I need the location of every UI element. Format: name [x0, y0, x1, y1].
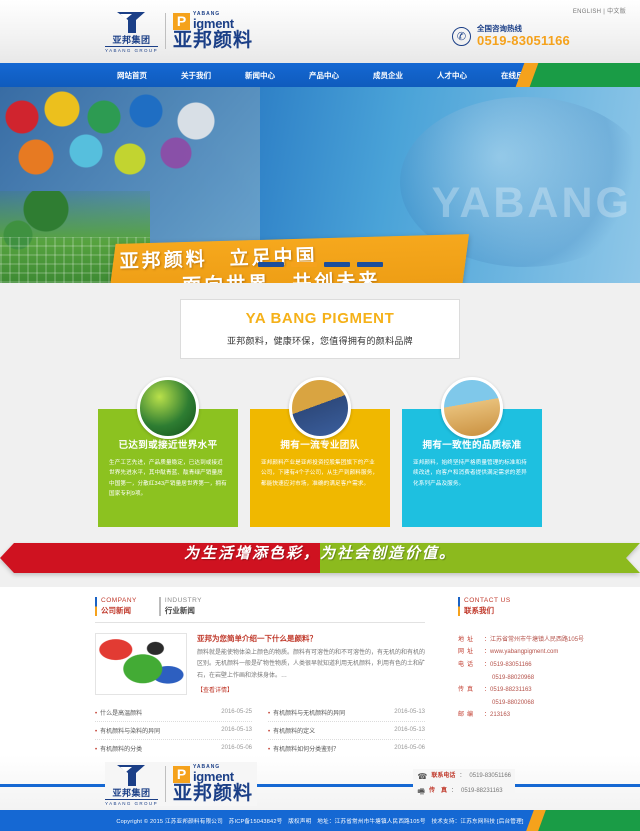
footer-divider-line — [0, 784, 640, 787]
tab-label-cn: 公司新闻 — [101, 606, 137, 616]
bullet-icon: • — [95, 711, 97, 717]
tab-indicator — [458, 597, 460, 616]
tab-label-en: INDUSTRY — [165, 597, 202, 606]
telephone-icon: ☎ — [417, 769, 427, 784]
footer-logo-divider — [165, 766, 166, 802]
news-list-right: •有机颜料与无机颜料的异同 2016-05-13 •有机颜料的定义 2016-0… — [268, 704, 425, 758]
list-item[interactable]: •有机颜料与染料的异同 2016-05-13 — [95, 722, 252, 740]
contact-address-row: 地址 ：江苏省常州市牛塘镇人民西路105号 — [458, 634, 584, 647]
news-date: 2016-05-06 — [394, 745, 425, 751]
copyright-text: Copyright © 2015 江苏亚邦颜料有限公司 苏ICP备1504384… — [116, 817, 523, 825]
contact-label: 邮编 — [458, 709, 484, 722]
contact-details: 地址 ：江苏省常州市牛塘镇人民西路105号 网址 ：www.yabangpigm… — [458, 634, 584, 722]
contact-label-en: CONTACT US — [464, 597, 511, 606]
site-footer: 亚邦集团 YABANG GROUP P YABANG igment 亚邦颜料 ☎… — [0, 755, 640, 831]
tab-industry-news[interactable]: INDUSTRY 行业新闻 — [159, 597, 202, 616]
tab-label-cn: 行业新闻 — [165, 606, 202, 616]
slider-dot-2[interactable] — [291, 262, 317, 267]
hero-banner: YABANG 亚邦颜料 立足中国 面向世界 共创未来 — [0, 87, 640, 283]
tab-indicator — [159, 597, 161, 616]
copyright-bar: Copyright © 2015 江苏亚邦颜料有限公司 苏ICP备1504384… — [0, 810, 640, 831]
group-logo-mark: 亚邦集团 YABANG GROUP — [105, 9, 158, 53]
feature-card[interactable]: 拥有一致性的品质标准 亚邦颜料，始终坚持严格质量管理的标准和持续改进，向客户和消… — [402, 377, 542, 527]
news-title[interactable]: 有机颜料如何分类鉴别？ — [273, 747, 339, 753]
card-title: 拥有一致性的品质标准 — [413, 437, 531, 451]
news-date: 2016-05-13 — [394, 727, 425, 733]
news-lists: •什么是高温颜料 2016-05-25 •有机颜料与染料的异同 2016-05-… — [95, 704, 425, 758]
contact-label: 传真 — [458, 684, 484, 697]
pigment-brand-big: igment — [193, 17, 234, 30]
news-date: 2016-05-06 — [221, 745, 252, 751]
intro-section: YA BANG PIGMENT 亚邦颜料，健康环保，您值得拥有的颜料品牌 — [0, 283, 640, 363]
news-tabs: COMPANY 公司新闻 INDUSTRY 行业新闻 — [95, 597, 425, 623]
group-name-cn: 亚邦集团 — [112, 36, 150, 45]
news-title[interactable]: 有机颜料与无机颜料的异同 — [273, 711, 345, 717]
lower-section: COMPANY 公司新闻 INDUSTRY 行业新闻 亚邦为您简单介绍一下什么是… — [0, 587, 640, 758]
card-title: 拥有一流专业团队 — [261, 437, 379, 451]
footer-logo[interactable]: 亚邦集团 YABANG GROUP P YABANG igment 亚邦颜料 — [105, 762, 257, 806]
nav-item-home[interactable]: 网站首页 — [100, 70, 164, 81]
contact-website-row[interactable]: 网址 ：www.yabangpigment.com — [458, 646, 584, 659]
feature-card[interactable]: 拥有一流专业团队 亚邦颜料产业是亚邦投资控股集团旗下的产业公司，下建有4个子公司… — [250, 377, 390, 527]
featured-news-title[interactable]: 亚邦为您简单介绍一下什么是颜料？ — [197, 633, 425, 644]
feature-cards: 已达到或接近世界水平 生产工艺先进，产品质量稳定，已达到或接近世界先进水平，其中… — [0, 363, 640, 537]
news-title[interactable]: 什么是高温颜料 — [100, 711, 142, 717]
phone-icon: ✆ — [452, 27, 471, 46]
contact-label: 网址 — [458, 646, 484, 659]
featured-news-image — [95, 633, 187, 695]
featured-news[interactable]: 亚邦为您简单介绍一下什么是颜料？ 颜料就是能使物体染上颜色的物质。颜料有可溶性的… — [95, 633, 425, 695]
featured-news-desc: 颜料就是能使物体染上颜色的物质。颜料有可溶性的和不可溶性的，有无机的和有机的区别… — [197, 648, 425, 682]
slider-dot-3[interactable] — [324, 262, 350, 267]
contact-phone-row: 电话 ：0519-83051166 — [458, 659, 584, 672]
footer-pigment-logo: P YABANG igment 亚邦颜料 — [173, 765, 253, 803]
card-title: 已达到或接近世界水平 — [109, 437, 227, 451]
footer-fax-row: 🖷 传 真 ： 0519-88231163 — [417, 784, 511, 799]
nav-item-about[interactable]: 关于我们 — [164, 70, 228, 81]
footer-brand-big: igment — [193, 770, 234, 783]
bullet-icon: • — [95, 747, 97, 753]
footer-fax-label: 传 真 — [429, 786, 447, 797]
contact-value: 0519-83051166 — [490, 659, 532, 672]
bullet-icon: • — [268, 729, 270, 735]
news-date: 2016-05-25 — [221, 709, 252, 715]
contact-value[interactable]: www.yabangpigment.com — [490, 646, 558, 659]
contact-label: 电话 — [458, 659, 484, 672]
footer-phone-value: 0519-83051166 — [469, 771, 511, 782]
banner-slider-indicators[interactable] — [0, 262, 640, 267]
news-title[interactable]: 有机颜料与染料的异同 — [100, 729, 160, 735]
nav-item-members[interactable]: 成员企业 — [356, 70, 420, 81]
logo-divider — [165, 13, 166, 49]
pigment-logo: P YABANG igment 亚邦颜料 — [173, 12, 253, 50]
slogan-ribbon-section: 为生活增添色彩，为社会创造价值。 — [0, 537, 640, 587]
tab-label-en: COMPANY — [101, 597, 137, 606]
list-item[interactable]: •有机颜料的定义 2016-05-13 — [268, 722, 425, 740]
slider-dot-1[interactable] — [258, 262, 284, 267]
footer-group-name-cn: 亚邦集团 — [112, 789, 150, 798]
language-english[interactable]: ENGLISH — [573, 9, 601, 15]
tab-company-news[interactable]: COMPANY 公司新闻 — [95, 597, 137, 616]
contact-fax-row: 传真 ：0519-88231163 — [458, 684, 584, 697]
yabang-y-icon — [114, 762, 148, 788]
footer-contact: ☎ 联系电话 ： 0519-83051166 🖷 传 真 ： 0519-8823… — [413, 769, 515, 799]
card-text: 亚邦颜料产业是亚邦投资控股集团旗下的产业公司，下建有4个子公司，从生产到颜料服务… — [261, 458, 379, 489]
brush-photo-icon — [441, 377, 503, 439]
footer-accent-stripes — [530, 810, 640, 831]
pigment-p-icon: P — [173, 766, 190, 783]
tab-indicator — [95, 597, 97, 616]
contact-label-cn: 联系我们 — [464, 606, 511, 616]
hotline-number: 0519-83051166 — [477, 34, 570, 49]
brand-name-cn: 亚邦颜料 — [173, 31, 253, 50]
card-text: 亚邦颜料，始终坚持严格质量管理的标准和持续改进，向客户和消费者提供满足需求的差异… — [413, 458, 531, 489]
contact-fax-secondary: 0519-88020068 — [458, 697, 584, 710]
slider-dot-4[interactable] — [357, 262, 383, 267]
footer-brand-cn: 亚邦颜料 — [173, 784, 253, 803]
intro-title-cn: 亚邦颜料，健康环保，您值得拥有的颜料品牌 — [191, 334, 449, 347]
footer-phone-row: ☎ 联系电话 ： 0519-83051166 — [417, 769, 511, 784]
contact-zip-row: 邮编 ：213163 — [458, 709, 584, 722]
contact-column: CONTACT US 联系我们 地址 ：江苏省常州市牛塘镇人民西路105号 网址… — [458, 597, 584, 758]
language-switcher[interactable]: ENGLISH | 中文版 — [573, 6, 626, 15]
bullet-icon: • — [95, 729, 97, 735]
featured-news-more-link[interactable]: 【查看详情】 — [197, 685, 425, 694]
contact-phone-secondary: 0519-88020968 — [458, 672, 584, 685]
intro-title-en: YA BANG PIGMENT — [191, 310, 449, 327]
contact-label: 地址 — [458, 634, 484, 647]
nav-item-news[interactable]: 新闻中心 — [228, 70, 292, 81]
nav-item-products[interactable]: 产品中心 — [292, 70, 356, 81]
news-title[interactable]: 有机颜料的分类 — [100, 747, 142, 753]
feature-card[interactable]: 已达到或接近世界水平 生产工艺先进，产品质量稳定，已达到或接近世界先进水平，其中… — [98, 377, 238, 527]
intro-box: YA BANG PIGMENT 亚邦颜料，健康环保，您值得拥有的颜料品牌 — [180, 299, 460, 359]
main-navigation: 网站首页 关于我们 新闻中心 产品中心 成员企业 人才中心 在线反馈 联系我们 — [0, 63, 640, 87]
pigment-p-icon: P — [173, 13, 190, 30]
news-column: COMPANY 公司新闻 INDUSTRY 行业新闻 亚邦为您简单介绍一下什么是… — [95, 597, 425, 758]
footer-top: 亚邦集团 YABANG GROUP P YABANG igment 亚邦颜料 ☎… — [0, 755, 640, 810]
news-date: 2016-05-13 — [221, 727, 252, 733]
site-header: ENGLISH | 中文版 亚邦集团 YABANG GROUP P YABANG… — [0, 0, 640, 63]
contact-value: 0519-88231163 — [490, 684, 532, 697]
footer-group-logo-mark: 亚邦集团 YABANG GROUP — [105, 762, 158, 806]
site-logo[interactable]: 亚邦集团 YABANG GROUP P YABANG igment 亚邦颜料 — [105, 9, 253, 53]
globe-photo-icon — [137, 377, 199, 439]
fax-icon: 🖷 — [417, 784, 425, 799]
group-name-en: YABANG GROUP — [105, 46, 158, 53]
footer-phone-label: 联系电话 — [431, 771, 455, 782]
contact-value: 江苏省常州市牛塘镇人民西路105号 — [490, 634, 584, 647]
contact-value: 213163 — [490, 709, 510, 722]
nav-item-careers[interactable]: 人才中心 — [420, 70, 484, 81]
nav-accent-stripes — [520, 63, 640, 87]
language-separator: | — [603, 9, 605, 15]
language-chinese[interactable]: 中文版 — [607, 9, 626, 15]
news-list-left: •什么是高温颜料 2016-05-25 •有机颜料与染料的异同 2016-05-… — [95, 704, 252, 758]
yabang-y-icon — [114, 9, 148, 35]
bullet-icon: • — [268, 711, 270, 717]
hotline: ✆ 全国咨询热线 0519-83051166 — [452, 25, 570, 49]
footer-group-name-en: YABANG GROUP — [105, 799, 158, 806]
ribbon-text: 为生活增添色彩，为社会创造价值。 — [0, 537, 640, 567]
contact-heading: CONTACT US 联系我们 — [458, 597, 511, 616]
banner-watermark: YABANG — [432, 179, 632, 228]
team-photo-icon — [289, 377, 351, 439]
bullet-icon: • — [268, 747, 270, 753]
news-date: 2016-05-13 — [394, 709, 425, 715]
list-item[interactable]: •有机颜料与无机颜料的异同 2016-05-13 — [268, 704, 425, 722]
footer-fax-value: 0519-88231163 — [461, 786, 503, 797]
list-item[interactable]: •什么是高温颜料 2016-05-25 — [95, 704, 252, 722]
card-text: 生产工艺先进，产品质量稳定，已达到或接近世界先进水平，其中酞青蓝、酞青绿产销量居… — [109, 458, 227, 499]
news-title[interactable]: 有机颜料的定义 — [273, 729, 315, 735]
